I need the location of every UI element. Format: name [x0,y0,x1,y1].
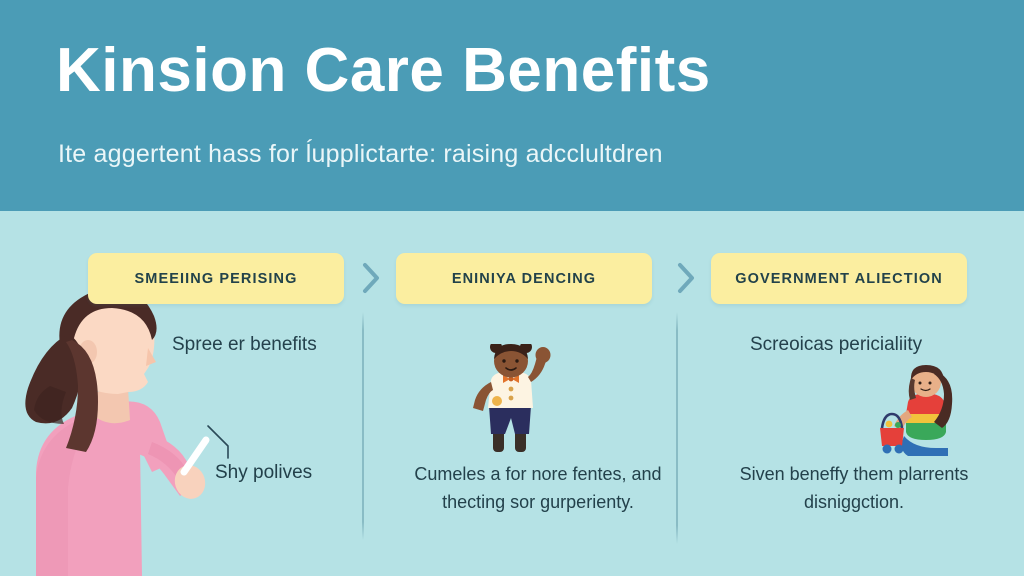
illustration-child-waving [455,344,571,454]
step-pill-3[interactable]: GOVERNMENT ALIECTION [711,253,967,304]
step-pill-1-label: SMEEIING PERISING [135,271,298,287]
illustration-girl-with-toy-basket [874,364,978,460]
step-3-body-text: Siven beneffy them plarrents disniggctio… [720,460,988,516]
step-1-label-mid: Shy polives [215,462,312,484]
step-2-body-text: Cumeles a for nore fentes, and thecting … [404,460,672,516]
page-title: Kinsion Care Benefits [56,38,986,103]
step-pill-2[interactable]: ENINIYA DENCING [396,253,652,304]
illustration-woman-with-pen [2,282,226,576]
chevron-right-icon-2 [673,261,699,295]
step-pill-3-label: GOVERNMENT ALIECTION [735,271,943,287]
page-subtitle: Ite aggertent hass for ĺupplictarte: rai… [58,140,998,169]
step-1-caption-top: Spree er benefits [172,334,317,356]
step-pill-1[interactable]: SMEEIING PERISING [88,253,344,304]
column-divider-2 [676,312,678,544]
step-3-caption-top: Screoicas pericialiity [750,334,922,356]
infographic-poster: Kinsion Care Benefits Ite aggertent hass… [0,0,1024,576]
step-pill-2-label: ENINIYA DENCING [452,271,596,287]
header-band: Kinsion Care Benefits Ite aggertent hass… [0,0,1024,211]
column-divider-1 [362,312,364,540]
chevron-right-icon-1 [358,261,384,295]
connector-elbow-line [206,424,252,460]
